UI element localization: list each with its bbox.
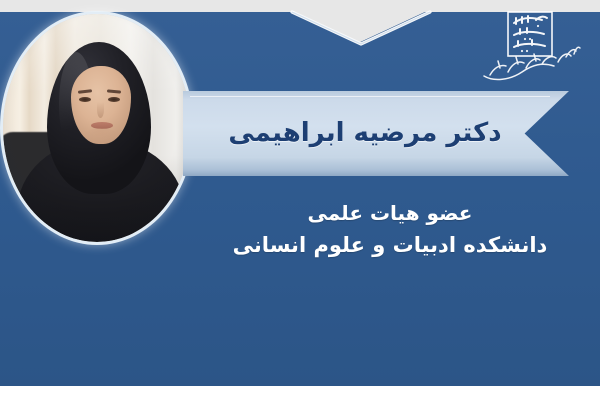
subtitle-block: عضو هیات علمی دانشکده ادبیات و علوم انسا…	[200, 198, 580, 262]
role-label: عضو هیات علمی	[200, 198, 580, 228]
paper-background-bottom	[0, 386, 600, 400]
logo-script-caption	[484, 47, 580, 79]
page-title: دکتر مرضیه ابراهیمی	[188, 95, 548, 172]
university-logo	[470, 4, 588, 90]
portrait-photo	[3, 14, 191, 242]
department-label: دانشکده ادبیات و علوم انسانی	[200, 230, 580, 262]
photo-vignette	[3, 14, 191, 242]
logo-seal-square	[508, 12, 552, 56]
avatar	[3, 14, 191, 242]
profile-card-canvas: دکتر مرضیه ابراهیمی عضو هیات علمی دانشکد…	[0, 0, 600, 400]
